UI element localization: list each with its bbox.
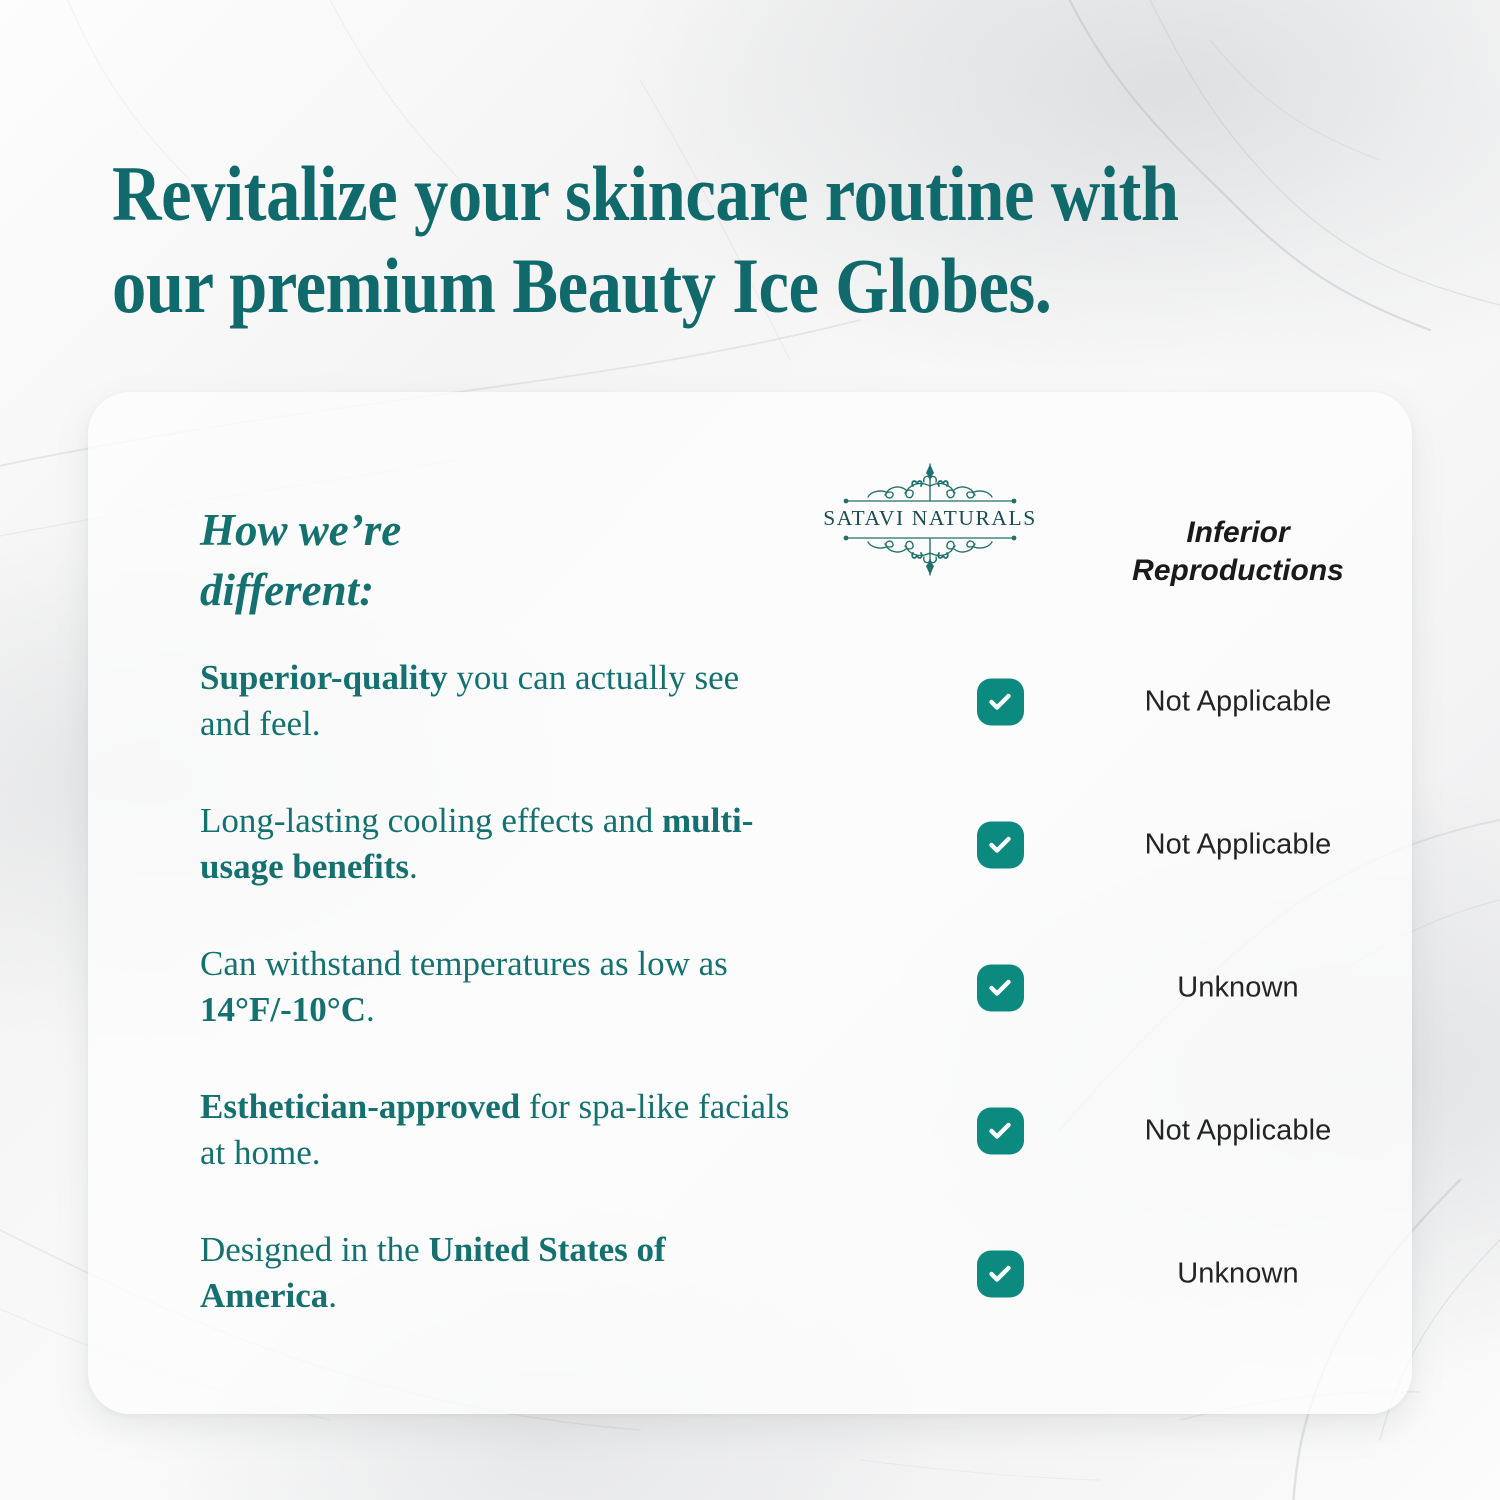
competitor-value: Not Applicable bbox=[1098, 1114, 1378, 1147]
section-heading-line-1: How we’re bbox=[200, 501, 580, 560]
section-heading-line-2: different: bbox=[200, 561, 580, 620]
filigree-ornament-top-icon bbox=[800, 460, 1060, 508]
feature-text: Long-lasting cooling effects and multi-u… bbox=[200, 798, 790, 892]
check-icon bbox=[977, 678, 1024, 725]
section-heading: How we’re different: bbox=[200, 501, 580, 620]
competitor-value: Not Applicable bbox=[1098, 685, 1378, 718]
feature-text-bold: 14°F/-10°C bbox=[200, 991, 366, 1030]
competitor-heading-line-2: Reproductions bbox=[1098, 552, 1378, 590]
table-row: Designed in the United States of America… bbox=[88, 1202, 1412, 1345]
feature-text: Designed in the United States of America… bbox=[200, 1227, 790, 1321]
brand-value-cell bbox=[870, 1107, 1130, 1154]
feature-rows: Superior-quality you can actually see an… bbox=[88, 630, 1412, 1345]
competitor-heading-line-1: Inferior bbox=[1098, 514, 1378, 552]
comparison-card: How we’re different: bbox=[88, 392, 1412, 1414]
feature-text: Can withstand temperatures as low as 14°… bbox=[200, 941, 790, 1035]
check-icon bbox=[977, 1250, 1024, 1297]
filigree-ornament-bottom-icon bbox=[800, 531, 1060, 579]
feature-text: Superior-quality you can actually see an… bbox=[200, 655, 790, 749]
table-row: Superior-quality you can actually see an… bbox=[88, 630, 1412, 773]
brand-logo-name: SATAVI NATURALS bbox=[800, 506, 1060, 531]
feature-text-bold: Superior-quality bbox=[200, 658, 448, 697]
page-headline: Revitalize your skincare routine with ou… bbox=[112, 148, 1256, 332]
feature-text-prefix: Designed in the bbox=[200, 1230, 428, 1269]
competitor-value: Unknown bbox=[1098, 1257, 1378, 1290]
check-icon bbox=[977, 964, 1024, 1011]
feature-text-prefix: Long-lasting cooling effects and bbox=[200, 801, 662, 840]
check-icon bbox=[977, 1107, 1024, 1154]
feature-text-suffix: . bbox=[409, 848, 418, 887]
competitor-column-heading: Inferior Reproductions bbox=[1098, 514, 1378, 591]
feature-text-bold: Esthetician-approved bbox=[200, 1087, 520, 1126]
competitor-value: Unknown bbox=[1098, 971, 1378, 1004]
feature-text-suffix: . bbox=[328, 1277, 337, 1316]
competitor-value: Not Applicable bbox=[1098, 828, 1378, 861]
feature-text: Esthetician-approved for spa-like facial… bbox=[200, 1084, 790, 1178]
table-row: Can withstand temperatures as low as 14°… bbox=[88, 916, 1412, 1059]
table-row: Long-lasting cooling effects and multi-u… bbox=[88, 773, 1412, 916]
headline-line-1: Revitalize your skincare routine with bbox=[112, 148, 1256, 240]
feature-text-prefix: Can withstand temperatures as low as bbox=[200, 944, 728, 983]
headline-line-2: our premium Beauty Ice Globes. bbox=[112, 240, 1256, 332]
brand-value-cell bbox=[870, 678, 1130, 725]
brand-value-cell bbox=[870, 1250, 1130, 1297]
feature-text-suffix: . bbox=[366, 991, 375, 1030]
brand-value-cell bbox=[870, 964, 1130, 1011]
table-row: Esthetician-approved for spa-like facial… bbox=[88, 1059, 1412, 1202]
filigree-ornament-icon bbox=[800, 460, 1060, 508]
brand-logo: SATAVI NATURALS bbox=[800, 460, 1060, 579]
brand-value-cell bbox=[870, 821, 1130, 868]
check-icon bbox=[977, 821, 1024, 868]
